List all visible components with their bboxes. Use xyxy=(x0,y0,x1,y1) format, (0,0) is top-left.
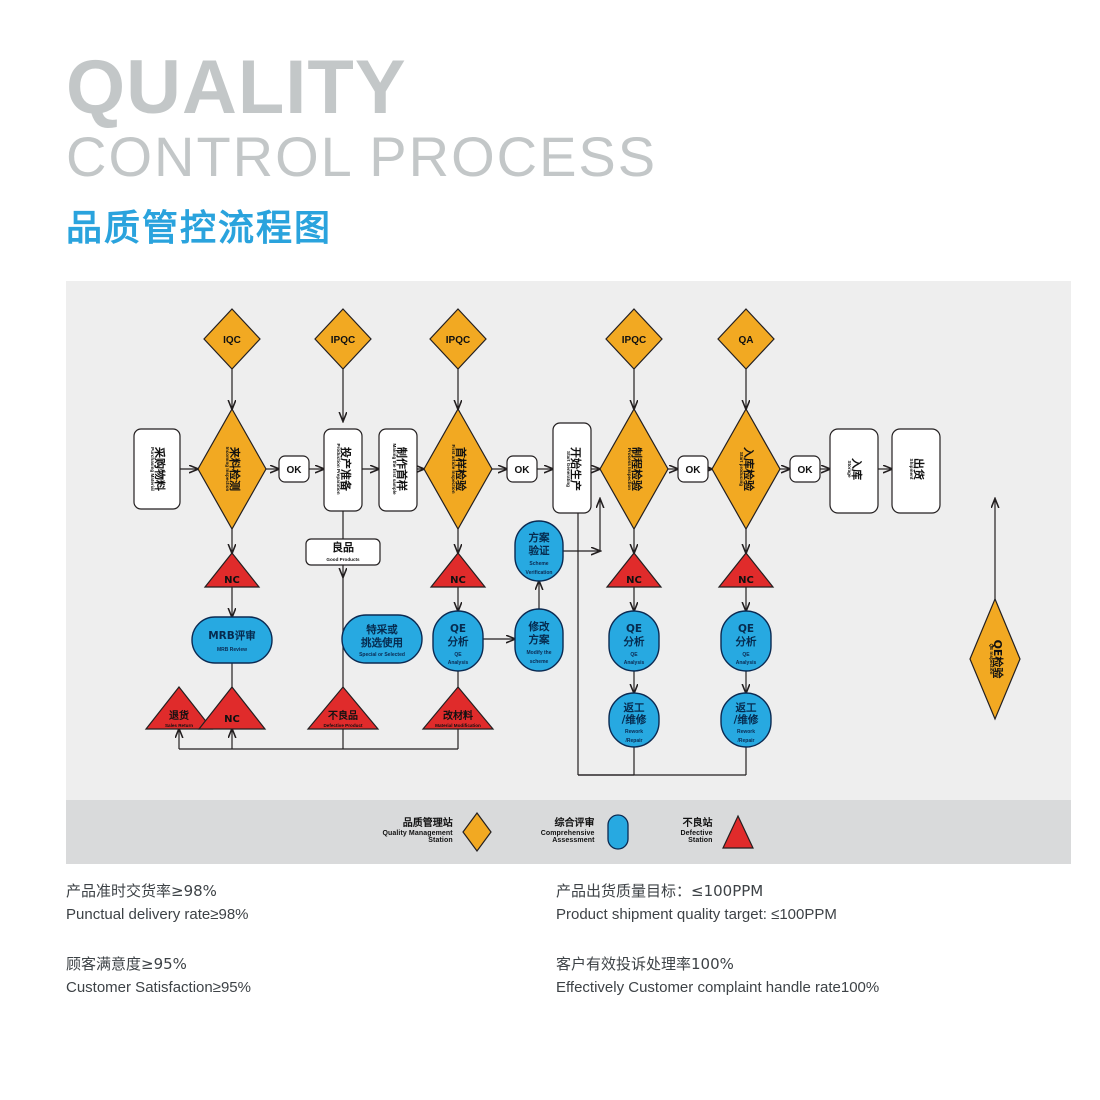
node-qe-analysis-instore[interactable]: QE 分析 QE Analysis xyxy=(721,611,771,671)
node-label-en-line1: Rework xyxy=(737,729,755,735)
node-making-first-sample[interactable]: 制作首样 Making the first sample xyxy=(379,429,417,511)
legend-label-en-1: Quality Management xyxy=(382,830,452,837)
metric-label-en: Effectively Customer complaint handle ra… xyxy=(556,976,1046,999)
metric-complaint-handle-rate: 客户有效投诉处理率100% Effectively Customer compl… xyxy=(556,953,1046,1000)
node-material-modification[interactable]: 改材料 Material Modification xyxy=(423,687,493,729)
node-label-en: Special or Selected xyxy=(359,652,405,658)
qc-station-label: IPQC xyxy=(622,335,646,346)
metric-label-en: Customer Satisfaction≥95% xyxy=(66,976,556,999)
node-label-en: Sales Return xyxy=(165,723,193,728)
legend-item-comprehensive-assessment: 综合评审 Comprehensive Assessment xyxy=(541,810,633,854)
metric-label-cn: 客户有效投诉处理率100% xyxy=(556,953,1046,976)
node-qe-analysis-process[interactable]: QE 分析 QE Analysis xyxy=(609,611,659,671)
qc-station-ipqc-1[interactable]: IPQC xyxy=(315,309,371,369)
qc-station-ipqc-3[interactable]: IPQC xyxy=(606,309,662,369)
node-label-en-line2: /Repair xyxy=(626,738,643,744)
metrics-footer: 产品准时交货率≥98% Punctual delivery rate≥98% 产… xyxy=(66,880,1046,999)
node-purchasing-material[interactable]: 采购物料 Purchasing Material xyxy=(134,429,180,509)
node-label-en: Defective Product xyxy=(323,723,363,728)
qc-station-qa[interactable]: QA xyxy=(718,309,774,369)
node-nc-process[interactable]: NC xyxy=(607,553,661,587)
page-header: QUALITY CONTROL PROCESS 品质管控流程图 xyxy=(66,52,657,251)
ok-label: OK xyxy=(287,465,303,476)
node-rework-repair-process[interactable]: 返工 /维修 Rework /Repair xyxy=(609,693,659,747)
node-shipment[interactable]: 出货 Shipment xyxy=(892,429,940,513)
node-in-store-inspection[interactable]: 入库检验 Start producing xyxy=(712,409,780,529)
node-ok-2[interactable]: OK xyxy=(507,456,537,482)
node-label-cn-line2: 验证 xyxy=(529,544,550,557)
node-good-products[interactable]: 良品 Good Products xyxy=(306,539,380,565)
node-label-en: First article Inspection xyxy=(451,444,456,493)
node-label-en-line1: Scheme xyxy=(529,561,548,567)
node-defective-product[interactable]: 不良品 Defective Product xyxy=(308,687,378,729)
node-label-en: Purchasing Material xyxy=(150,447,155,491)
node-start-generating[interactable]: 开始生产 Start Generating xyxy=(553,423,591,513)
node-label-cn-line2: 分析 xyxy=(624,635,645,648)
qc-station-row: IQC IPQC IPQC IPQC QA xyxy=(204,309,774,369)
qc-station-ipqc-2[interactable]: IPQC xyxy=(430,309,486,369)
node-label-cn: 不良品 xyxy=(328,709,358,722)
node-label-en: Storage xyxy=(847,460,852,478)
node-qe-inspection[interactable]: QE检验 QE Inspection xyxy=(970,599,1020,719)
node-label-cn-line2: /维修 xyxy=(734,713,759,726)
node-label-cn-line1: 返工 xyxy=(736,701,757,714)
node-label-cn: 良品 xyxy=(332,540,354,554)
node-label-en-line2: scheme xyxy=(530,659,549,665)
flowchart-svg: IQC IPQC IPQC IPQC QA xyxy=(66,281,1071,800)
legend-label-en-1: Comprehensive xyxy=(541,830,595,837)
node-ok-1[interactable]: OK xyxy=(279,456,309,482)
nc-label: NC xyxy=(626,575,642,586)
node-label-cn: MRB评审 xyxy=(208,629,256,642)
legend-label-cn: 综合评审 xyxy=(541,819,595,830)
nc-label: NC xyxy=(450,575,466,586)
qc-station-iqc[interactable]: IQC xyxy=(204,309,260,369)
ok-label: OK xyxy=(515,465,531,476)
node-label-cn: 退货 xyxy=(169,709,189,722)
legend-label-en-2: Station xyxy=(382,837,452,844)
qc-station-label: QA xyxy=(739,335,754,346)
node-label-cn-line1: 特采或 xyxy=(366,623,398,636)
legend-label-en-1: Defective xyxy=(681,830,713,837)
title-quality: QUALITY xyxy=(66,52,657,124)
node-nc-mrb[interactable]: NC xyxy=(199,687,265,729)
nc-label: NC xyxy=(224,714,240,725)
node-nc-fai[interactable]: NC xyxy=(431,553,485,587)
node-label-en: QE Inspection xyxy=(989,644,994,675)
node-special-or-selected[interactable]: 特采或 挑选使用 Special or Selected xyxy=(342,615,422,663)
node-label-cn-line1: 返工 xyxy=(624,701,645,714)
legend-bar: 品质管理站 Quality Management Station 综合评审 Co… xyxy=(66,800,1071,864)
node-first-article-inspection[interactable]: 首样检验 First article Inspection xyxy=(424,409,492,529)
metric-label-en: Punctual delivery rate≥98% xyxy=(66,903,556,926)
node-label-en: Shipment xyxy=(909,459,914,480)
node-label-en-line2: Verification xyxy=(526,570,553,576)
qc-station-label: IPQC xyxy=(446,335,470,346)
node-label-cn-line1: QE xyxy=(626,623,642,635)
node-label-en: Good Products xyxy=(326,557,360,562)
node-qe-analysis-fai[interactable]: QE 分析 QE Analysis xyxy=(433,611,483,671)
metric-label-cn: 产品出货质量目标：≤100PPM xyxy=(556,880,1046,903)
node-label-en-line2: Analysis xyxy=(624,660,645,666)
title-chinese: 品质管控流程图 xyxy=(66,199,657,251)
title-control-process: CONTROL PROCESS xyxy=(66,128,657,187)
legend-item-defective-station: 不良站 Defective Station xyxy=(681,810,755,854)
node-ok-4[interactable]: OK xyxy=(790,456,820,482)
node-label-cn-line2: 分析 xyxy=(736,635,757,648)
node-production-preparation[interactable]: 投产准备 Production Preparation xyxy=(324,429,362,511)
node-incoming-inspection[interactable]: 来料检测 Incoming Inspection xyxy=(198,409,266,529)
node-label-cn-line1: QE xyxy=(738,623,754,635)
node-label-en-line1: Modify the xyxy=(527,650,552,656)
nc-label: NC xyxy=(224,575,240,586)
flowchart-panel: IQC IPQC IPQC IPQC QA xyxy=(66,281,1071,800)
node-storage[interactable]: 入库 Storage xyxy=(830,429,878,513)
legend-item-quality-management-station: 品质管理站 Quality Management Station xyxy=(382,810,492,854)
legend-diamond-icon xyxy=(461,810,493,854)
node-label-en-line1: QE xyxy=(630,652,638,658)
metric-label-en: Product shipment quality target: ≤100PPM xyxy=(556,903,1046,926)
node-label-cn-line2: 方案 xyxy=(529,633,550,646)
node-ok-3[interactable]: OK xyxy=(678,456,708,482)
node-label-en-line1: QE xyxy=(742,652,750,658)
node-label-cn-line2: 分析 xyxy=(448,635,469,648)
nc-label: NC xyxy=(738,575,754,586)
node-label-en: Process Inspection xyxy=(627,448,632,490)
node-nc-incoming[interactable]: NC xyxy=(205,553,259,587)
node-label-en-line2: Analysis xyxy=(736,660,757,666)
qc-station-label: IQC xyxy=(223,335,241,346)
metric-punctual-delivery: 产品准时交货率≥98% Punctual delivery rate≥98% xyxy=(66,880,556,927)
node-process-inspection[interactable]: 制程检验 Process Inspection xyxy=(600,409,668,529)
quality-control-process-page: QUALITY CONTROL PROCESS 品质管控流程图 xyxy=(0,0,1100,1100)
node-label-cn-line1: 修改 xyxy=(528,620,550,633)
node-label-en: Production Preparation xyxy=(336,443,341,494)
metric-label-cn: 产品准时交货率≥98% xyxy=(66,880,556,903)
node-nc-instore[interactable]: NC xyxy=(719,553,773,587)
node-rework-repair-instore[interactable]: 返工 /维修 Rework /Repair xyxy=(721,693,771,747)
legend-label-en-2: Station xyxy=(681,837,713,844)
ok-label: OK xyxy=(686,465,702,476)
node-label-cn: 改材料 xyxy=(443,709,473,722)
node-label-en: Incoming Inspection xyxy=(225,447,230,492)
qc-station-label: IPQC xyxy=(331,335,355,346)
node-scheme-verification[interactable]: 方案 验证 Scheme Verification xyxy=(515,521,563,581)
node-label-cn-line2: /维修 xyxy=(622,713,647,726)
node-label-en-line1: Rework xyxy=(625,729,643,735)
legend-label-cn: 不良站 xyxy=(681,819,713,830)
legend-label-en-2: Assessment xyxy=(541,837,595,844)
node-label-en-line2: Analysis xyxy=(448,660,469,666)
node-modify-scheme[interactable]: 修改 方案 Modify the scheme xyxy=(515,609,563,671)
node-label-en: Start producing xyxy=(739,452,744,486)
node-label-en: Start Generating xyxy=(566,451,571,487)
node-mrb-review[interactable]: MRB评审 MRB Review xyxy=(192,617,272,663)
node-label-cn-line1: QE xyxy=(450,623,466,635)
node-label-en: Making the first sample xyxy=(392,443,397,494)
node-label-cn-line1: 方案 xyxy=(529,531,550,544)
node-label-en: Material Modification xyxy=(435,723,481,728)
node-label-en: MRB Review xyxy=(217,647,247,653)
node-sales-return[interactable]: 退货 Sales Return xyxy=(146,687,212,729)
node-label-cn-line2: 挑选使用 xyxy=(361,636,403,649)
legend-triangle-icon xyxy=(721,810,755,854)
metric-label-cn: 顾客满意度≥95% xyxy=(66,953,556,976)
metric-customer-satisfaction: 顾客满意度≥95% Customer Satisfaction≥95% xyxy=(66,953,556,1000)
legend-label-cn: 品质管理站 xyxy=(382,819,452,830)
legend-pill-icon xyxy=(603,810,633,854)
node-label-en-line2: /Repair xyxy=(738,738,755,744)
ok-label: OK xyxy=(798,465,814,476)
node-label-en-line1: QE xyxy=(454,652,462,658)
metric-shipment-quality: 产品出货质量目标：≤100PPM Product shipment qualit… xyxy=(556,880,1046,927)
